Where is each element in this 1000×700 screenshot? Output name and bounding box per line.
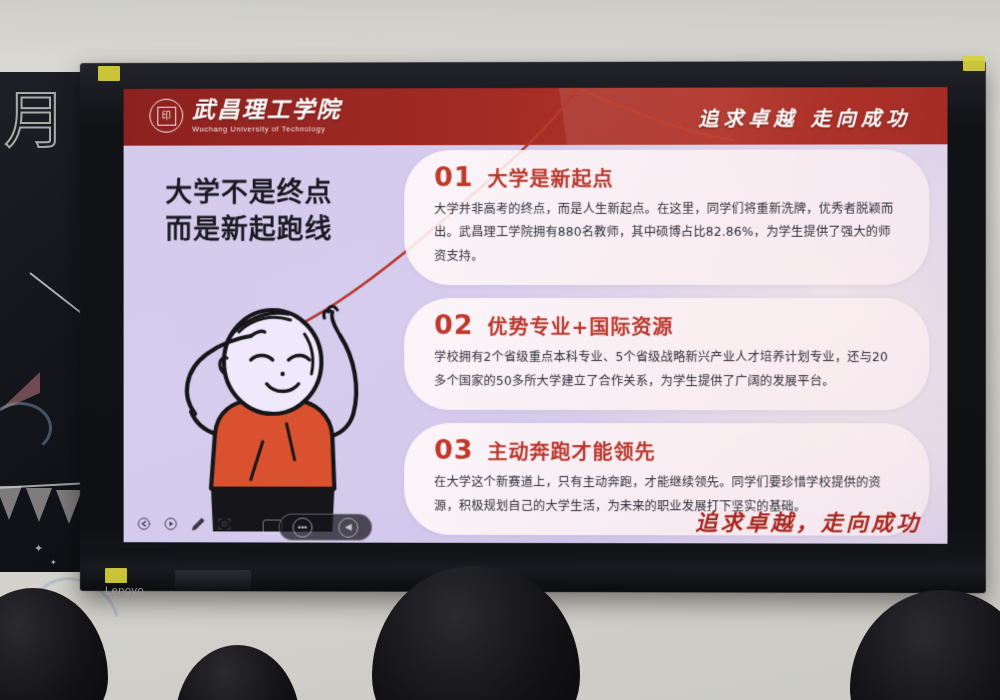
undo-icon[interactable] — [136, 515, 153, 532]
screen-toolbar[interactable] — [128, 511, 241, 536]
slide-header: 印 武昌理工学院 Wuchang University of Technolog… — [124, 87, 948, 146]
card-number: 01 — [434, 164, 474, 191]
slide-title-line2: 而是新起跑线 — [165, 211, 394, 248]
pen-icon[interactable] — [189, 515, 206, 532]
slide-cards: 01 大学是新起点 大学并非高考的终点，而是人生新起点。在这里，同学们将重新洗牌… — [404, 149, 929, 543]
card-title: 主动奔跑才能领先 — [488, 442, 656, 462]
card-number: 03 — [434, 437, 474, 464]
bunting-triangle — [0, 486, 22, 520]
university-name-cn: 武昌理工学院 — [192, 98, 341, 121]
chalk-arc-small — [0, 402, 52, 454]
seal-inner-glyph: 印 — [157, 106, 176, 125]
corner-marker — [105, 568, 127, 583]
student-illustration — [155, 284, 384, 539]
display-screen[interactable]: 印 武昌理工学院 Wuchang University of Technolog… — [124, 87, 948, 544]
footer-slogan: 追求卓越，走向成功 — [695, 505, 921, 537]
chalk-sparkle-icon: ✦ — [50, 558, 57, 567]
header-slogan: 追求卓越 走向成功 — [698, 102, 911, 131]
card-body: 学校拥有2个省级重点本科专业、5个省级战略新兴产业人才培养计划专业，还与20多个… — [434, 346, 899, 393]
slide-card[interactable]: 01 大学是新起点 大学并非高考的终点，而是人生新起点。在这里，同学们将重新洗牌… — [404, 149, 929, 285]
corner-marker — [963, 56, 985, 71]
back-icon[interactable]: ◀ — [338, 517, 358, 537]
slide-title-line1: 大学不是终点 — [165, 174, 394, 211]
corner-marker — [98, 66, 120, 81]
card-body: 大学并非高考的终点，而是人生新起点。在这里，同学们将重新洗牌，优秀者脱颖而出。武… — [434, 198, 899, 269]
slide-card[interactable]: 02 优势专业+国际资源 学校拥有2个省级重点本科专业、5个省级战略新兴产业人才… — [404, 298, 929, 410]
bunting-triangle — [26, 488, 52, 522]
university-logo: 印 武昌理工学院 Wuchang University of Technolog… — [149, 98, 341, 133]
display-brand-logo: Lenovo — [105, 585, 144, 597]
interactive-display[interactable]: 印 武昌理工学院 Wuchang University of Technolog… — [80, 61, 986, 593]
card-title: 优势专业+国际资源 — [488, 317, 674, 337]
card-title: 大学是新起点 — [488, 169, 614, 189]
slide-title: 大学不是终点 而是新起跑线 — [165, 174, 394, 249]
bunting-triangle — [56, 490, 82, 524]
chalk-character: 月 — [4, 90, 66, 152]
play-icon[interactable] — [162, 515, 179, 532]
classroom-scene: 月 ✦ ✦ 印 — [0, 0, 1000, 700]
more-options-icon[interactable]: ••• — [293, 517, 313, 537]
card-number: 02 — [434, 312, 474, 339]
presentation-slide: 印 武昌理工学院 Wuchang University of Technolog… — [124, 87, 948, 544]
university-name-en: Wuchang University of Technology — [192, 125, 341, 133]
slide-left-column: 大学不是终点 而是新起跑线 — [141, 156, 408, 543]
chalk-sparkle-icon: ✦ — [34, 542, 43, 555]
screenshot-icon[interactable] — [216, 515, 233, 532]
display-speaker-grille — [175, 570, 251, 590]
toolbar-floating-pill[interactable]: ••• ◀ — [279, 514, 373, 541]
seal-icon: 印 — [149, 99, 183, 133]
